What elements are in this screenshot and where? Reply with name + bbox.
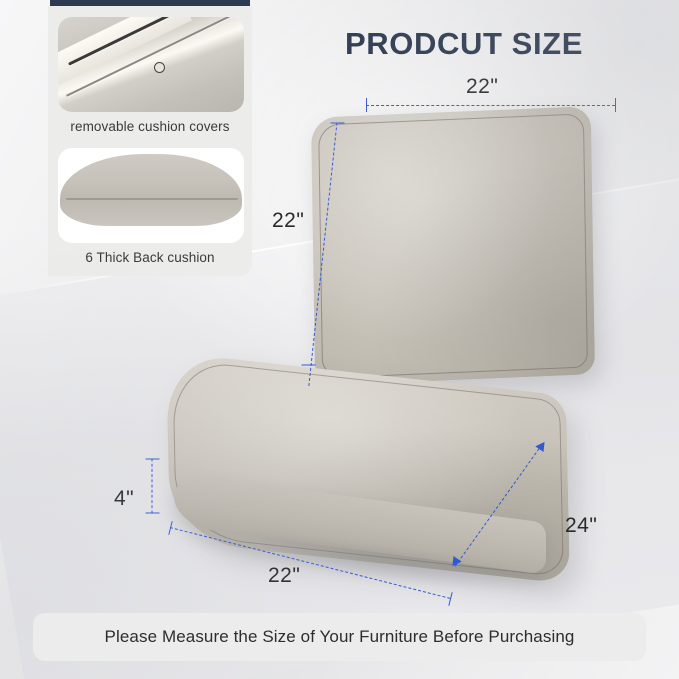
feature-caption-removable-covers: removable cushion covers <box>48 119 252 134</box>
page-title: PRODCUT SIZE <box>345 26 645 62</box>
dimension-cap-back-width-left <box>366 98 367 112</box>
dimension-line-back-width <box>366 105 615 106</box>
cushion-pillow-shape <box>60 154 242 226</box>
dimension-label-seat-width: 22" <box>268 564 300 588</box>
dimension-cap-back-height-bottom <box>302 365 316 366</box>
dimension-cap-back-height-top <box>331 123 345 124</box>
feature-caption-thick-back-cushion: 6 Thick Back cushion <box>48 250 252 265</box>
dimension-cap-seat-thickness-top <box>146 459 160 460</box>
back-cushion <box>311 106 595 386</box>
back-cushion-piping <box>318 113 588 378</box>
dimension-cap-back-width-right <box>615 98 616 112</box>
zipper-pull-icon <box>154 62 165 73</box>
cushion-seam <box>66 198 238 200</box>
dimension-label-seat-thickness: 4" <box>114 487 134 511</box>
measure-notice-banner: Please Measure the Size of Your Furnitur… <box>33 613 646 661</box>
dimension-label-seat-depth: 24" <box>565 514 597 538</box>
dimension-cap-seat-thickness-bottom <box>146 513 160 514</box>
dimension-label-back-height: 22" <box>272 209 304 233</box>
dimension-label-back-width: 22" <box>466 75 498 99</box>
measure-notice-text: Please Measure the Size of Your Furnitur… <box>105 627 575 647</box>
dimension-line-seat-thickness <box>152 459 153 514</box>
cover-flap <box>58 17 192 86</box>
zipper-closeup-photo <box>58 17 244 112</box>
back-cushion-closeup-photo <box>58 148 244 243</box>
product-size-infographic: removable cushion covers 6 Thick Back cu… <box>0 0 679 679</box>
